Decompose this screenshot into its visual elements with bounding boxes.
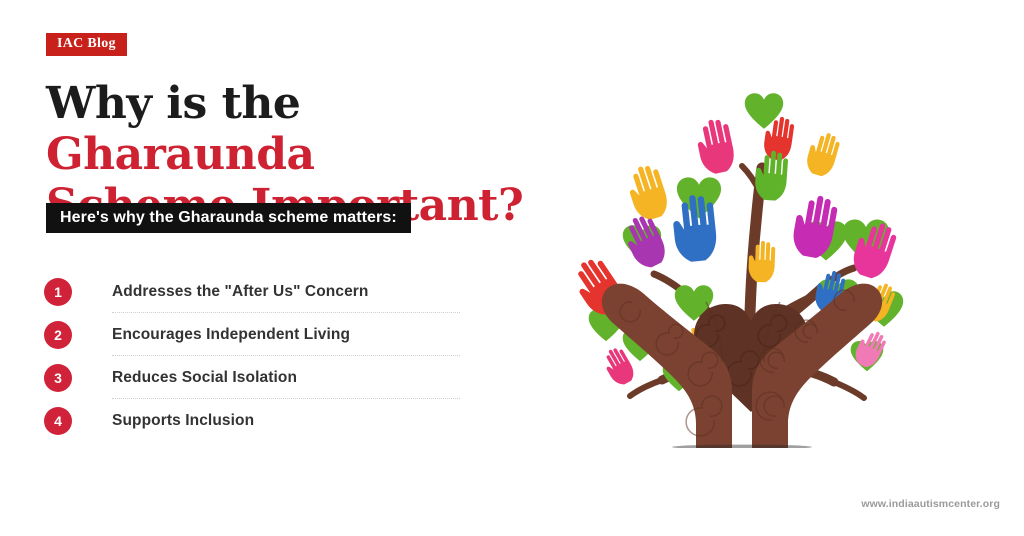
headline-part-dark: Why is the [46,78,300,129]
list-item-number: 4 [44,407,72,435]
list-item: 3 Reduces Social Isolation [44,356,444,399]
iac-blog-badge: IAC Blog [46,33,127,56]
list-item: 1 Addresses the "After Us" Concern [44,270,444,313]
tree-group [567,93,904,448]
headline-part-accent: Gharaunda [46,129,315,180]
list-item-label: Supports Inclusion [112,412,254,430]
hands-tree-illustration [566,72,936,448]
list-item: 2 Encourages Independent Living [44,313,444,356]
list-item-number: 2 [44,321,72,349]
list-item: 4 Supports Inclusion [44,399,444,442]
list-item-label: Addresses the "After Us" Concern [112,283,369,301]
list-item-label: Reduces Social Isolation [112,369,297,387]
infographic-canvas: IAC Blog Why is the Gharaunda Scheme Imp… [0,0,1024,536]
reasons-list: 1 Addresses the "After Us" Concern 2 Enc… [44,270,444,442]
subtitle-bar: Here's why the Gharaunda scheme matters: [46,203,411,233]
list-item-number: 3 [44,364,72,392]
list-item-label: Encourages Independent Living [112,326,350,344]
website-url: www.indiaautismcenter.org [861,498,1000,510]
list-item-number: 1 [44,278,72,306]
